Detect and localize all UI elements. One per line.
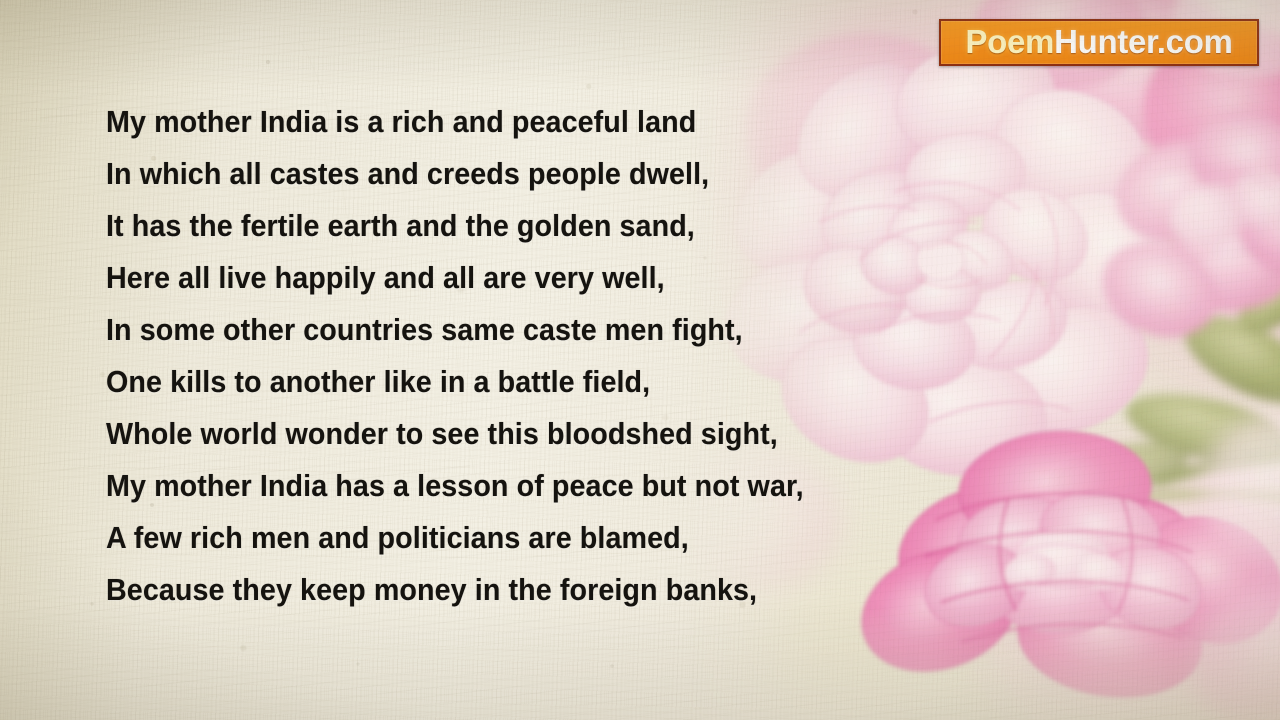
paper-bottom-shadow [0, 600, 1280, 720]
poem-image-canvas: My mother India is a rich and peaceful l… [0, 0, 1280, 720]
paper-top-shadow [0, 0, 1280, 90]
